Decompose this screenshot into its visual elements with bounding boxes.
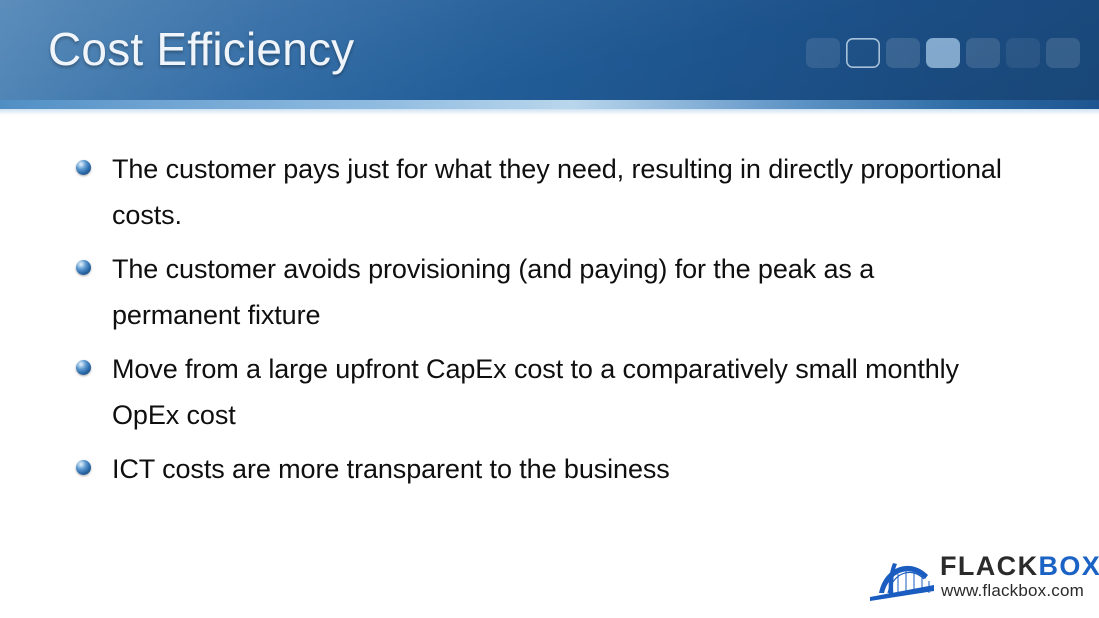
- list-item: The customer pays just for what they nee…: [76, 146, 1006, 238]
- bullet-list: The customer pays just for what they nee…: [76, 146, 1006, 500]
- logo-wordmark: FLACKBOX: [940, 551, 1099, 581]
- logo-url: www.flackbox.com: [941, 581, 1084, 601]
- list-item: The customer avoids provisioning (and pa…: [76, 246, 1006, 338]
- header-square-2: [846, 38, 880, 68]
- list-item: ICT costs are more transparent to the bu…: [76, 446, 1006, 492]
- header-square-7: [1046, 38, 1080, 68]
- blue-sphere-bullet-icon: [76, 160, 91, 175]
- logo-word-primary: FLACK: [940, 551, 1038, 581]
- logo-word-accent: BOX: [1038, 551, 1099, 581]
- blue-sphere-bullet-icon: [76, 360, 91, 375]
- bullet-text: ICT costs are more transparent to the bu…: [112, 446, 1006, 492]
- slide-header: Cost Efficiency: [0, 0, 1099, 100]
- header-square-1: [806, 38, 840, 68]
- header-square-5: [966, 38, 1000, 68]
- page-title: Cost Efficiency: [48, 19, 354, 79]
- bridge-arch-icon: [868, 553, 944, 601]
- bullet-text: Move from a large upfront CapEx cost to …: [112, 346, 1006, 438]
- header-underline: [0, 100, 1099, 109]
- blue-sphere-bullet-icon: [76, 260, 91, 275]
- flackbox-logo: FLACKBOX www.flackbox.com: [868, 549, 1090, 611]
- header-underline-fade: [0, 109, 1099, 115]
- blue-sphere-bullet-icon: [76, 460, 91, 475]
- slide: Cost Efficiency The customer pays just f…: [0, 0, 1099, 618]
- header-square-6: [1006, 38, 1040, 68]
- bullet-text: The customer pays just for what they nee…: [112, 146, 1006, 238]
- header-accent-squares: [806, 38, 1080, 68]
- bullet-text: The customer avoids provisioning (and pa…: [112, 246, 1006, 338]
- header-square-4: [926, 38, 960, 68]
- list-item: Move from a large upfront CapEx cost to …: [76, 346, 1006, 438]
- header-square-3: [886, 38, 920, 68]
